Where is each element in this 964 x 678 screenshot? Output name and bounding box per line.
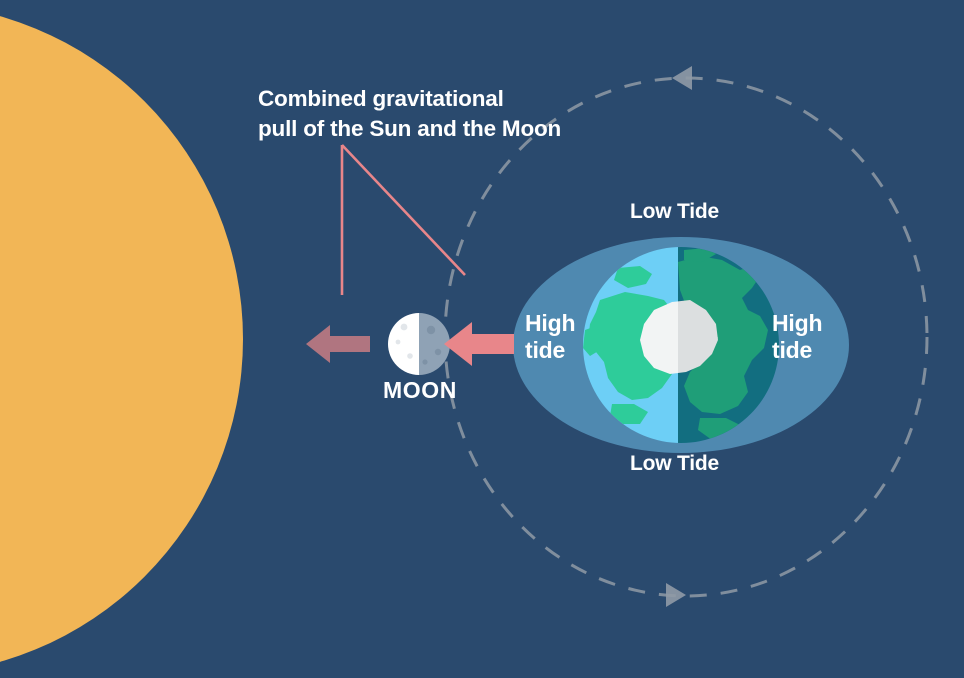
moon-crater bbox=[435, 349, 441, 355]
annotation-leader-line-diagonal bbox=[342, 145, 465, 275]
moon-crater bbox=[407, 353, 413, 359]
orbit-arrow-top-icon bbox=[672, 66, 692, 90]
orbit-arrow-bottom-icon bbox=[666, 583, 686, 607]
annotation-label: Combined gravitational pull of the Sun a… bbox=[258, 84, 561, 145]
moon-body bbox=[388, 313, 451, 375]
sun-body bbox=[0, 3, 243, 675]
arrow-moon-to-sun-icon bbox=[306, 325, 370, 363]
moon-crater bbox=[427, 326, 435, 334]
moon-crater bbox=[396, 340, 401, 345]
moon-crater bbox=[422, 359, 427, 364]
moon-label: MOON bbox=[383, 377, 457, 404]
diagram-canvas: Combined gravitational pull of the Sun a… bbox=[0, 0, 964, 678]
moon-crater bbox=[401, 324, 408, 331]
low-tide-bottom-label: Low Tide bbox=[630, 452, 719, 477]
high-tide-right-label: High tide bbox=[772, 310, 822, 364]
low-tide-top-label: Low Tide bbox=[630, 200, 719, 225]
earth-body bbox=[583, 247, 779, 443]
arrow-earth-to-moon-icon bbox=[444, 322, 514, 366]
high-tide-left-label: High tide bbox=[525, 310, 575, 364]
moon-lit-half bbox=[388, 313, 420, 375]
